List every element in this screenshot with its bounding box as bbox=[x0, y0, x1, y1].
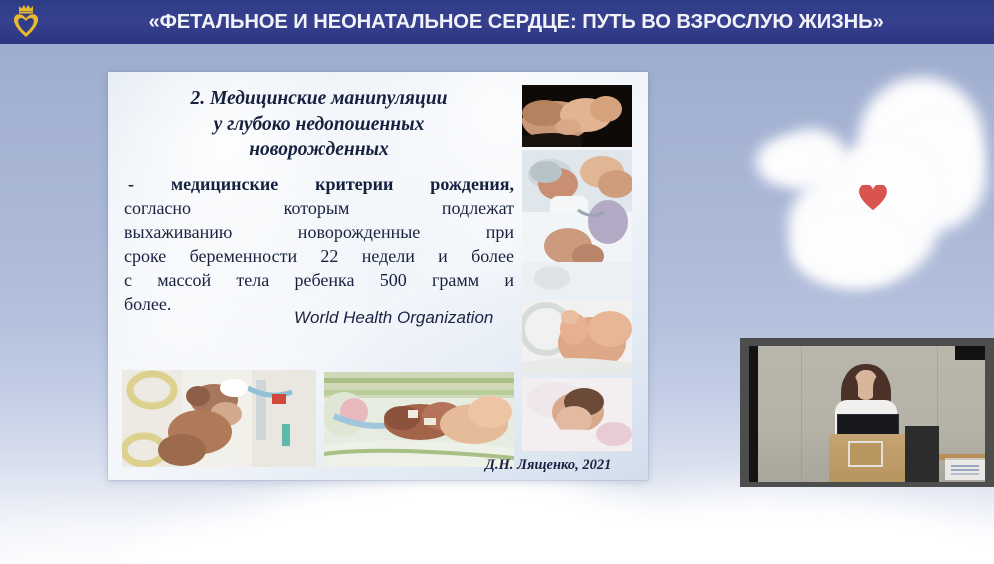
speaker-video-feed[interactable] bbox=[740, 338, 994, 487]
preemie-with-tubes-photo bbox=[324, 372, 514, 467]
event-header-bar: «ФЕТАЛЬНОЕ И НЕОНАТАЛЬНОЕ СЕРДЦЕ: ПУТЬ В… bbox=[0, 0, 994, 44]
slide-attribution: World Health Organization bbox=[294, 308, 493, 328]
cloud-fetus-artwork bbox=[740, 75, 990, 315]
slide-heading-line-3: новорожденных bbox=[130, 137, 508, 163]
paper-lines bbox=[951, 465, 979, 467]
video-corner-shadow bbox=[955, 346, 985, 360]
preemie-in-hands-photo bbox=[522, 85, 632, 147]
preemie-feet-in-hand-photo bbox=[522, 299, 632, 375]
slide-body-line-1: согласно которым подлежат bbox=[124, 197, 514, 221]
cloud-fetus-hand bbox=[756, 139, 808, 185]
slide-body-line-3: сроке беременности 22 недели и более bbox=[124, 245, 514, 269]
slide-heading-line-1: 2. Медицинские манипуляции bbox=[130, 86, 508, 112]
presentation-slide: 2. Медицинские манипуляции у глубоко нед… bbox=[108, 72, 648, 480]
slide-text-column: 2. Медицинские манипуляции у глубоко нед… bbox=[124, 86, 514, 317]
video-left-edge bbox=[749, 346, 758, 482]
slide-body-line-2: выхаживанию новорожденные при bbox=[124, 221, 514, 245]
heart-icon bbox=[859, 185, 887, 211]
podium-side-column bbox=[905, 426, 939, 482]
podium-panel bbox=[848, 441, 883, 467]
desk-papers bbox=[945, 458, 985, 480]
slide-lead-text: - медицинские критерии рождения, bbox=[124, 173, 514, 197]
slide-body-line-4: с массой тела ребенка 500 грамм и bbox=[124, 269, 514, 293]
slide-photo-strip bbox=[522, 85, 632, 451]
sleeping-newborn-photo bbox=[522, 378, 632, 451]
slide-content: 2. Медицинские манипуляции у глубоко нед… bbox=[108, 72, 648, 480]
page-title: «ФЕТАЛЬНОЕ И НЕОНАТАЛЬНОЕ СЕРДЦЕ: ПУТЬ В… bbox=[59, 10, 987, 34]
presentation-stream-view: 2. Медицинские манипуляции у глубоко нед… bbox=[0, 0, 994, 564]
wall-seam bbox=[801, 346, 802, 482]
preemie-on-adult-hand-photo bbox=[122, 370, 316, 467]
cloud-fetus-leg bbox=[792, 215, 908, 287]
slide-heading-line-2: у глубоко недопошенных bbox=[130, 112, 508, 138]
crowned-heart-logo bbox=[0, 0, 52, 44]
slide-heading: 2. Медицинские манипуляции у глубоко нед… bbox=[124, 86, 514, 163]
video-scene bbox=[749, 346, 985, 482]
preemie-in-incubator-photo bbox=[522, 150, 632, 296]
slide-credit: Д.Н. Лященко, 2021 bbox=[485, 457, 611, 474]
